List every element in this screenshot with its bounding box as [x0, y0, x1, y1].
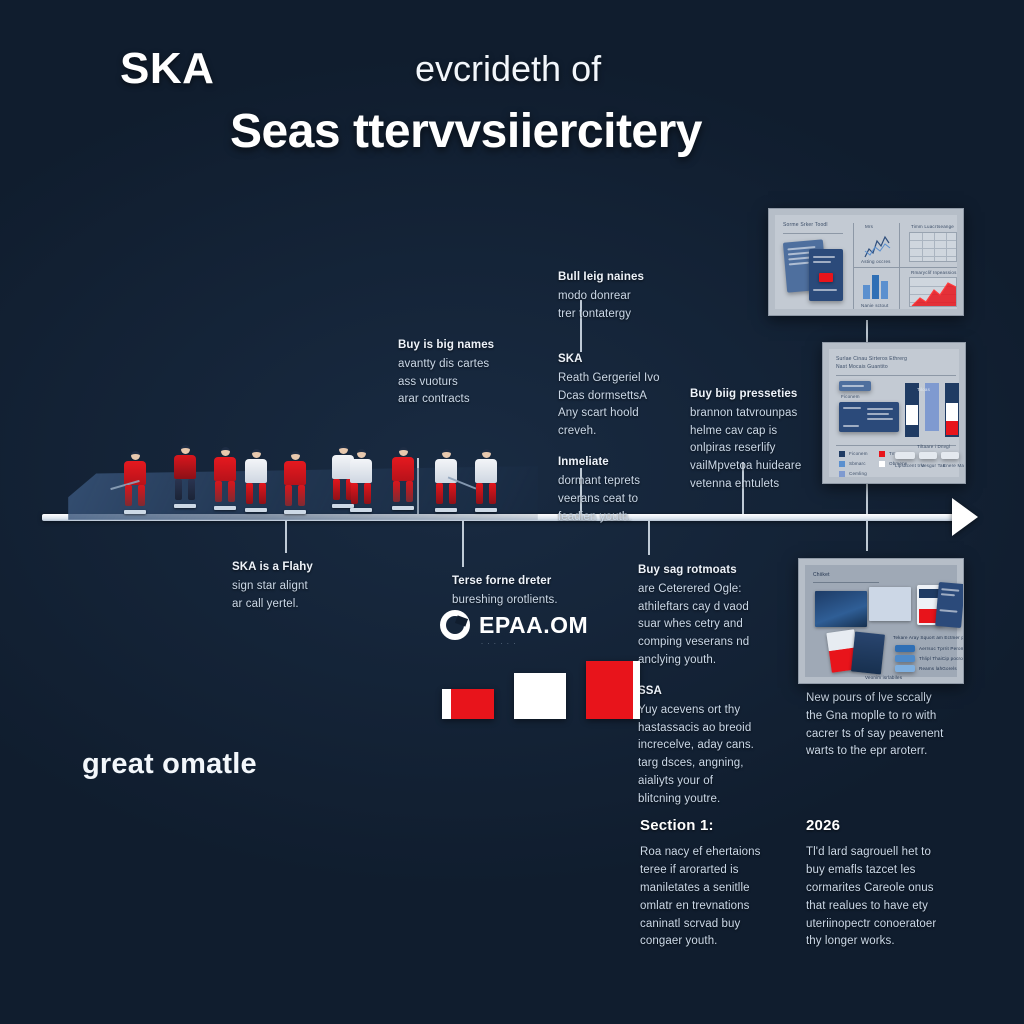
brand-name: EPAA.OM — [479, 612, 588, 639]
panel-caption: Reams lahGorels — [919, 666, 957, 671]
divider — [813, 582, 879, 583]
bar — [881, 281, 888, 299]
panel-bottom-right[interactable]: Chiiket Veonim isrlabiles Tekare Aray Sq… — [798, 558, 964, 684]
panel-caption: Tiloas — [917, 387, 930, 392]
panel-top-right[interactable]: Sorme Srker Toodl Mrs — [768, 208, 964, 316]
thumbnail-photo — [815, 591, 867, 627]
infographic-canvas: SKA evcrideth of Seas ttervvsiiercitery — [0, 0, 1024, 1024]
note-heading: Buy is big names — [398, 337, 538, 355]
player-figure — [122, 451, 148, 514]
legend-swatch — [839, 451, 845, 457]
thumbnail-apparel — [851, 632, 885, 675]
player-figure — [212, 447, 238, 510]
note-heading-secondary: SSA — [638, 683, 788, 701]
note-heading-secondary: Inmeliate — [558, 454, 698, 472]
note-ska-general: SKA Reath Gergeriel Ivo Dcas dormsettsA … — [558, 351, 698, 526]
player-figure — [282, 451, 308, 514]
note-buy-sag-rotmoats: Buy sag rotmoats are Ceterered Ogle: ath… — [638, 562, 788, 809]
legend-swatch — [879, 451, 885, 457]
page-title-kicker: evcrideth of — [415, 48, 601, 90]
divider — [853, 267, 957, 268]
value-chip — [895, 645, 915, 652]
note-body: brannon tatvrounpas helme cav cap is onl… — [690, 405, 826, 494]
value-chip — [895, 655, 915, 662]
section-1: Section 1: Roa nacy ef ehertaions teree … — [640, 814, 790, 951]
divider — [836, 375, 956, 376]
value-chip — [941, 452, 959, 459]
flag-white — [514, 673, 566, 719]
connector-line — [866, 484, 868, 514]
panel-caption: Timm Luacrtseange — [911, 224, 954, 229]
sparkline-svg — [863, 231, 893, 259]
note-new-pours: New pours of lve sccally the Gna moplle … — [806, 690, 964, 761]
column-segment — [946, 421, 958, 435]
player-figure — [243, 449, 269, 512]
connector-line — [462, 521, 464, 567]
player-figure — [348, 449, 374, 512]
note-bull-big-names: Bull Ieig naines modo donrear trer tonta… — [558, 269, 698, 323]
note-heading: Buy biig presseties — [690, 386, 826, 404]
thumbnail-sketch — [869, 587, 911, 621]
panel-mid-right[interactable]: Surlae Cinau Sirteros Ethrerg Nast Mocai… — [822, 342, 966, 484]
panel-caption: Aerrsoc Tprrit Peromol The Pour — [919, 646, 964, 651]
legend-label: Ficonem — [849, 451, 868, 456]
note-body: bureshing orotlients. — [452, 592, 602, 610]
panel-title: Sorme Srker Toodl — [783, 222, 828, 228]
brand-tagline: · · · · · · — [481, 641, 640, 647]
bar-chart — [863, 273, 893, 299]
thumbnail — [819, 273, 833, 282]
section-body: Tl'd lard sagrouell het to buy emafls ta… — [806, 844, 966, 951]
panel-caption: Tekare Aray Squort am Ectmer p-HSQ — [893, 635, 964, 640]
section-title: Section 1: — [640, 814, 790, 837]
flag-tall-red — [586, 661, 640, 719]
legend-label: Sbmarc — [849, 461, 866, 466]
page-title: Seas ttervvsiiercitery — [230, 104, 702, 159]
panel-caption: Nanie sctout — [861, 303, 888, 308]
panel-title: Surlae Cinau Sirteros Ethrerg Nast Mocai… — [836, 356, 907, 371]
legend-swatch — [839, 461, 845, 467]
legend-label: Cemling — [849, 471, 867, 476]
divider — [853, 223, 854, 309]
section-title: 2026 — [806, 814, 966, 837]
panel-title: Chiiket — [813, 572, 830, 578]
note-body: are Ceterered Ogle: athileftars cay d va… — [638, 581, 788, 670]
divider — [899, 223, 900, 309]
player-figure — [473, 449, 499, 512]
flag-row — [442, 661, 640, 719]
panel-caption: Mrs — [865, 224, 873, 229]
value-chip — [895, 665, 915, 672]
panel-caption: Tiltaare i Dnvgl — [917, 444, 950, 449]
note-body: New pours of lve sccally the Gna moplle … — [806, 690, 964, 761]
note-body-secondary: dormant teprets veerans ceat to feadien … — [558, 473, 698, 526]
note-buy-big-names: Buy is big names avantty dis cartes ass … — [398, 337, 538, 409]
note-heading: SKA — [558, 351, 698, 369]
legend-swatch — [879, 461, 885, 467]
panel-caption: Veonim isrlabiles — [865, 675, 902, 680]
document-card — [839, 402, 899, 432]
note-heading: Terse forne dreter — [452, 573, 602, 591]
column-segment — [946, 403, 958, 421]
bar — [863, 285, 870, 299]
panel-caption: Vesgur Tau — [921, 463, 945, 468]
section-2026: 2026 Tl'd lard sagrouell het to buy emaf… — [806, 814, 966, 951]
bar — [872, 275, 879, 299]
panel-caption: Asting occres — [861, 259, 891, 264]
panel-caption: Rmaryclif Inpeassios — [911, 270, 957, 275]
player-figure — [172, 445, 198, 508]
hockey-team-illustration — [60, 424, 546, 520]
note-body: sign star alignt ar call yertel. — [232, 578, 372, 614]
area-chart-svg — [910, 278, 958, 308]
panel-caption: Ficonem — [841, 394, 860, 399]
note-buy-big-presseties: Buy biig presseties brannon tatvrounpas … — [690, 386, 826, 494]
note-heading: Buy sag rotmoats — [638, 562, 788, 580]
circle-swoosh-icon — [440, 610, 470, 640]
footer-note: great omatle — [82, 748, 257, 781]
flag-small-red — [442, 689, 494, 719]
brand-logo-block: EPAA.OM · · · · · · — [440, 610, 640, 719]
legend-swatch — [839, 471, 845, 477]
player-figure — [433, 449, 459, 512]
document-card — [809, 249, 843, 301]
note-body: Reath Gergeriel Ivo Dcas dormsettsA Any … — [558, 370, 698, 441]
section-body: Roa nacy ef ehertaions teree if arorarte… — [640, 844, 790, 951]
value-chip — [895, 452, 915, 459]
note-heading: SKA is a Flahy — [232, 559, 372, 577]
divider — [783, 233, 843, 234]
connector-line — [866, 521, 868, 551]
stacked-column-chart — [905, 383, 961, 437]
document-card — [935, 582, 964, 628]
chart-grid — [909, 232, 957, 262]
page-title-brand: SKA — [120, 44, 214, 94]
note-ska-flashy: SKA is a Flahy sign star alignt ar call … — [232, 559, 372, 613]
note-body-secondary: Yuy acevens ort thy hastassacis ao breoi… — [638, 702, 788, 809]
panel-caption: Enere Ma — [943, 463, 964, 468]
note-heading: Bull Ieig naines — [558, 269, 698, 287]
badge-card — [839, 381, 871, 391]
arrow-right-icon — [952, 498, 978, 536]
note-body: avantty dis cartes ass vuoturs arar cont… — [398, 356, 538, 409]
note-body: modo donrear trer tontatergy — [558, 288, 698, 324]
player-figure — [390, 447, 416, 510]
connector-line — [285, 521, 287, 553]
panel-caption: Thlipl ThaiCip pocromibe — [919, 656, 964, 661]
value-chip — [919, 452, 937, 459]
chart-grid — [909, 277, 957, 307]
note-terse-forne: Terse forne dreter bureshing orotlients. — [452, 573, 602, 610]
column-segment — [906, 405, 918, 425]
